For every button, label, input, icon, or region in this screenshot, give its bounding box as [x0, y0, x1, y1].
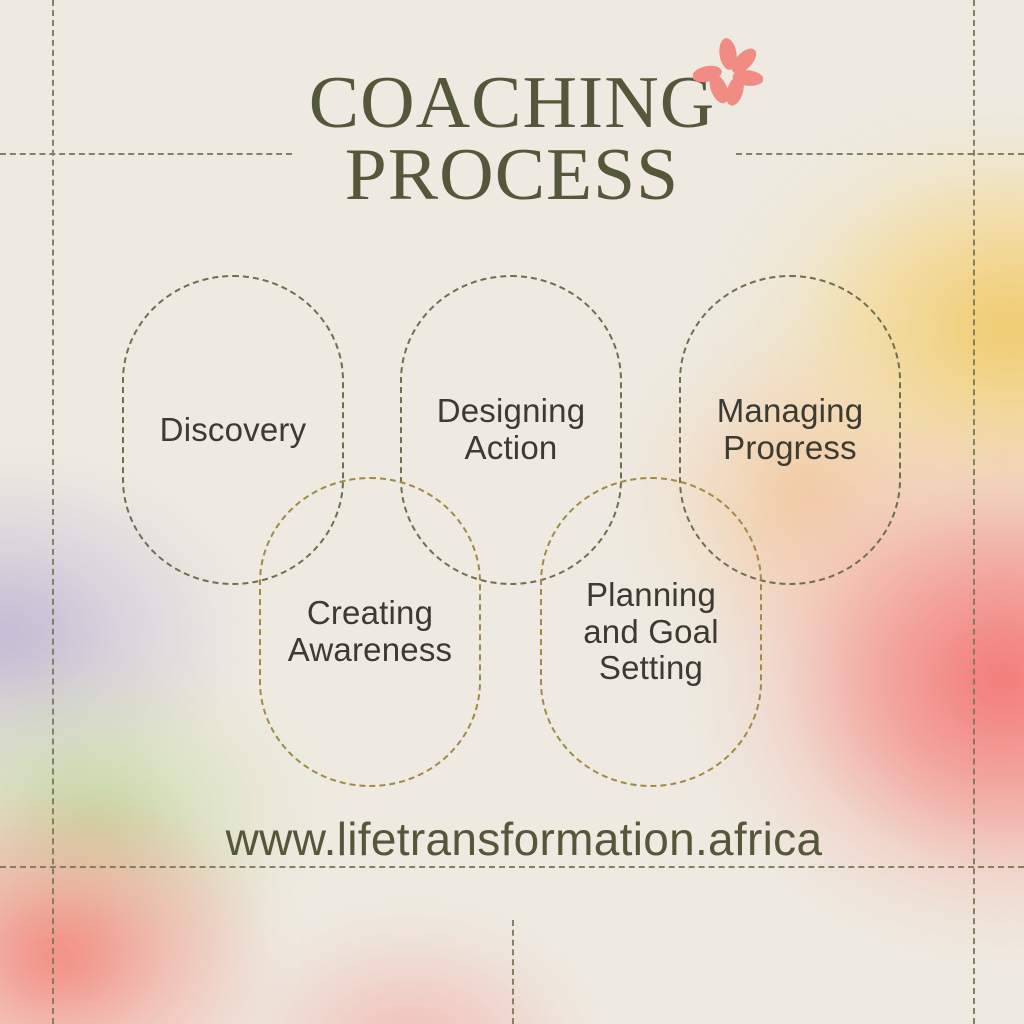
flower-icon [693, 38, 763, 108]
process-bubble-label: Planning and Goal Setting [577, 577, 725, 688]
page-title: COACHING PROCESS [0, 68, 1024, 212]
gradient-blob-coral-left [0, 754, 340, 1024]
page-title-line-1: COACHING [0, 68, 1024, 140]
website-url[interactable]: www.lifetransformation.africa [0, 812, 1024, 866]
poster-canvas: COACHING PROCESS Discovery Designing Act… [0, 0, 1024, 1024]
process-bubble-label: Discovery [154, 412, 313, 449]
process-bubble-creating-awareness[interactable]: Creating Awareness [259, 477, 481, 787]
page-title-line-2: PROCESS [0, 140, 1024, 212]
process-bubble-planning-and-goal-setting[interactable]: Planning and Goal Setting [540, 477, 762, 787]
guide-line-vertical-bottom-center [512, 920, 514, 1024]
process-bubble-label: Creating Awareness [282, 595, 458, 669]
process-bubble-label: Designing Action [431, 393, 592, 467]
process-bubble-label: Managing Progress [711, 393, 870, 467]
gradient-blob-pink-bottom [180, 914, 640, 1024]
guide-line-horizontal-bottom [0, 866, 1024, 868]
